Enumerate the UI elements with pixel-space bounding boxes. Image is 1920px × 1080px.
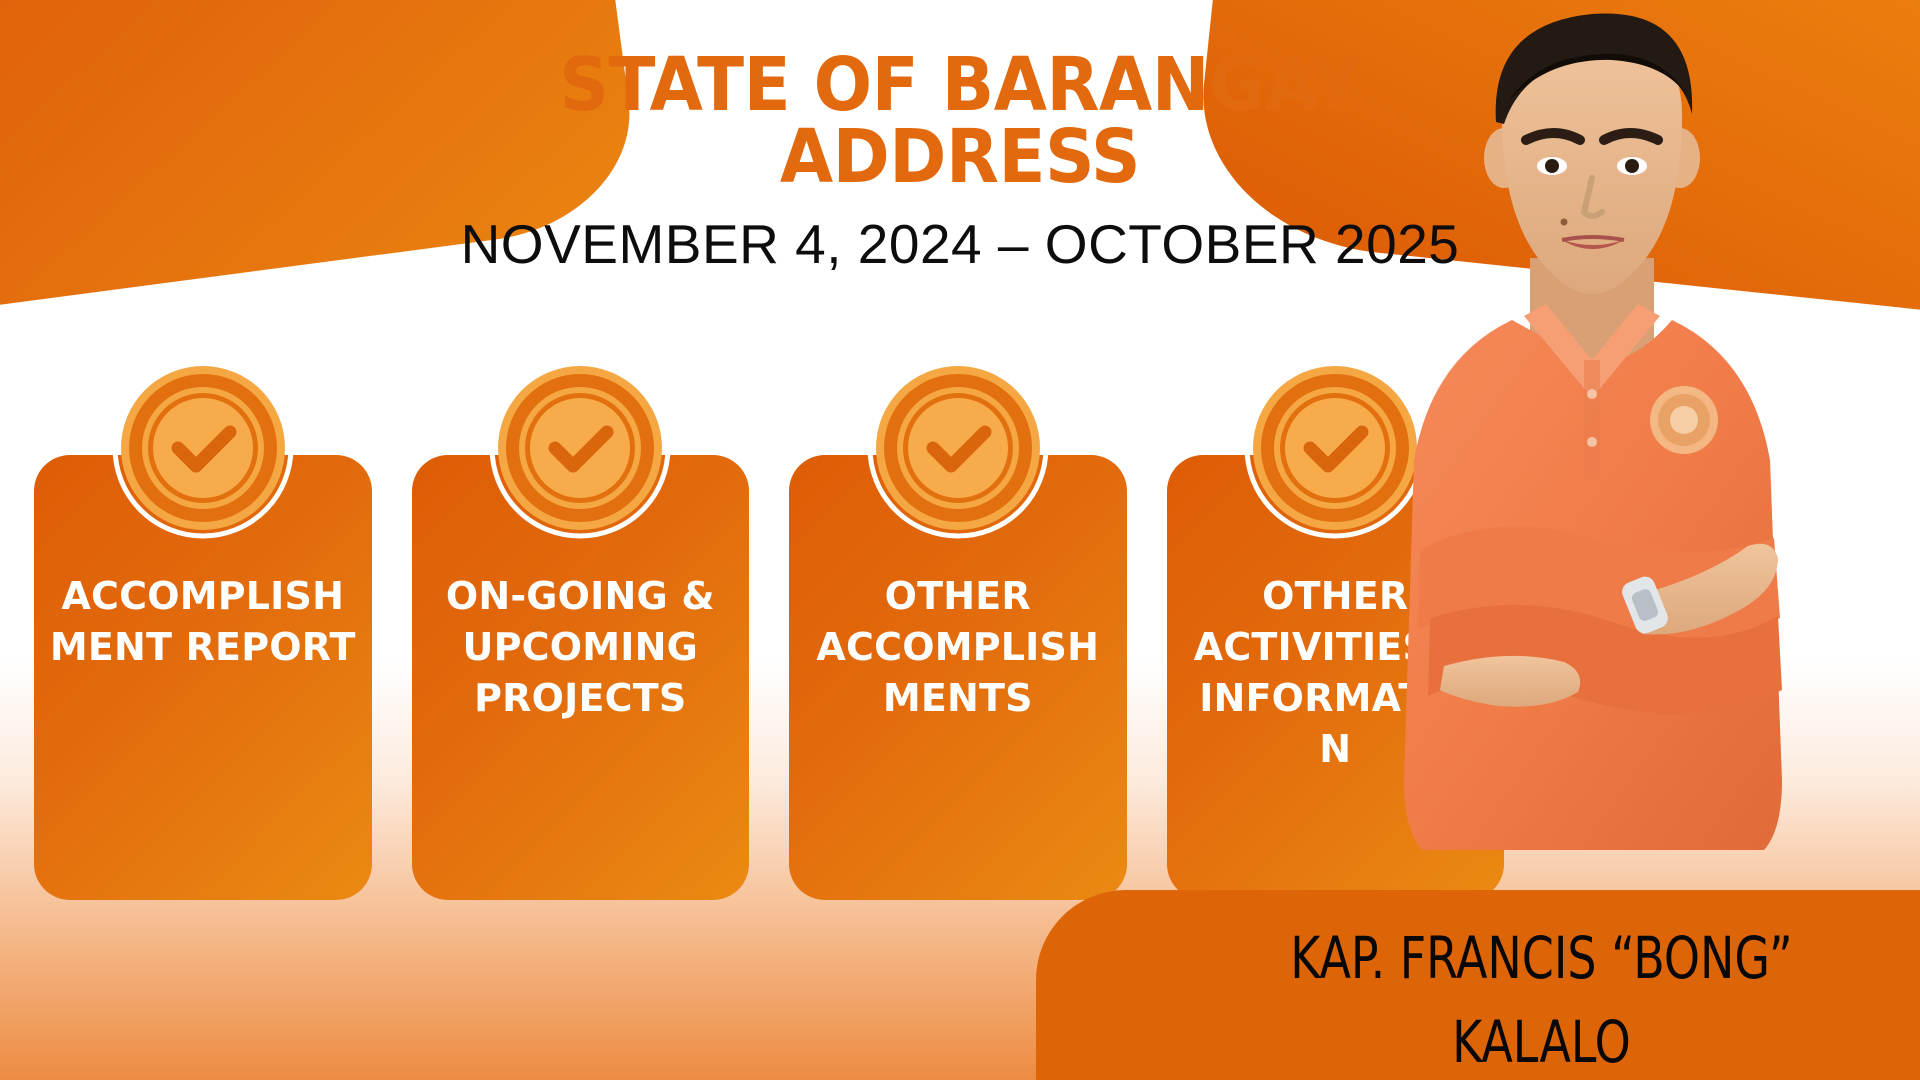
speaker-name: KAP. FRANCIS “BONG” KALALO — [1290, 916, 1792, 1080]
section-card-accomplishment-report[interactable]: ACCOMPLISH MENT REPORT — [34, 455, 372, 900]
section-card-other-accomplishments[interactable]: OTHER ACCOMPLISH MENTS — [789, 455, 1127, 900]
section-card-ongoing-upcoming-projects[interactable]: ON-GOING & UPCOMING PROJECTS — [412, 455, 750, 900]
section-card-label: ON-GOING & UPCOMING PROJECTS — [446, 571, 715, 724]
section-cards-row: ACCOMPLISH MENT REPORT ON-GOING & UPCOMI… — [34, 455, 1504, 900]
top-left-blob-decoration — [0, 0, 644, 316]
section-card-label: ACCOMPLISH MENT REPORT — [50, 571, 356, 673]
poster-canvas: STATE OF BARANGAY ADDRESS NOVEMBER 4, 20… — [0, 0, 1920, 1080]
check-badge-icon — [108, 353, 298, 543]
speaker-name-banner: KAP. FRANCIS “BONG” KALALO — [1036, 890, 1920, 1080]
speaker-portrait-photo — [1312, 0, 1872, 920]
check-badge-icon — [485, 353, 675, 543]
check-badge-icon — [863, 353, 1053, 543]
section-card-label: OTHER ACCOMPLISH MENTS — [816, 571, 1099, 724]
